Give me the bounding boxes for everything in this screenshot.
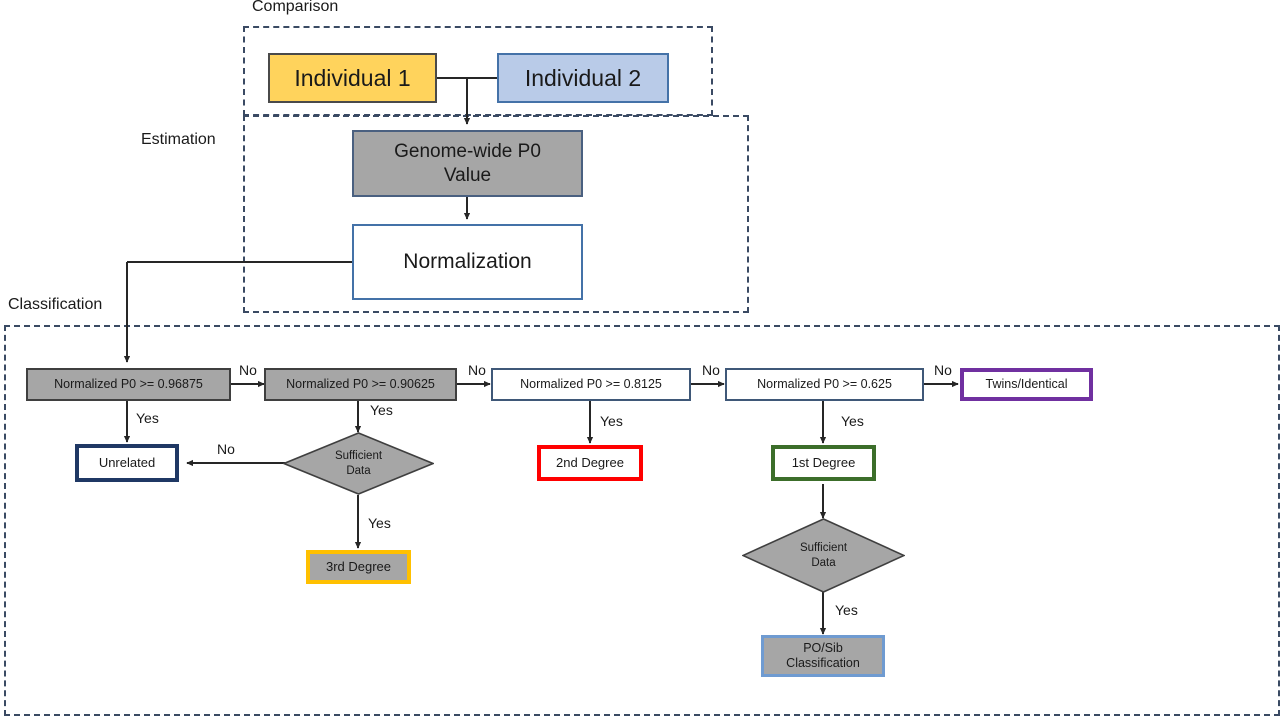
node-decision-p0-08125[interactable]: Normalized P0 >= 0.8125: [491, 368, 691, 401]
node-2nd-degree[interactable]: 2nd Degree: [537, 445, 643, 481]
edge-label-no-2: No: [468, 362, 486, 378]
node-normalization[interactable]: Normalization: [352, 224, 583, 300]
posib-line-1: PO/Sib: [803, 641, 843, 656]
sufficient-data-1-line-1: Sufficient: [335, 449, 382, 463]
posib-line-2: Classification: [786, 656, 860, 671]
node-sufficient-data-2[interactable]: Sufficient Data: [742, 518, 905, 593]
edge-label-yes-1: Yes: [136, 410, 159, 426]
flowchart-canvas: Comparison Estimation Classification: [0, 0, 1280, 720]
edge-label-no-4: No: [934, 362, 952, 378]
node-unrelated[interactable]: Unrelated: [75, 444, 179, 482]
node-po-sib-classification[interactable]: PO/Sib Classification: [761, 635, 885, 677]
node-genome-wide-p0[interactable]: Genome-wide P0 Value: [352, 130, 583, 197]
node-3rd-degree[interactable]: 3rd Degree: [306, 550, 411, 584]
sufficient-data-2-line-1: Sufficient: [800, 541, 847, 555]
group-classification-label: Classification: [8, 296, 102, 314]
group-estimation-label: Estimation: [141, 131, 216, 149]
node-individual-2[interactable]: Individual 2: [497, 53, 669, 103]
edge-label-yes-2: Yes: [370, 402, 393, 418]
genome-p0-line-1: Genome-wide P0: [394, 140, 541, 163]
node-1st-degree[interactable]: 1st Degree: [771, 445, 876, 481]
sufficient-data-2-line-2: Data: [811, 556, 835, 570]
node-sufficient-data-1[interactable]: Sufficient Data: [283, 432, 434, 495]
node-decision-p0-096875[interactable]: Normalized P0 >= 0.96875: [26, 368, 231, 401]
edge-label-no-3: No: [702, 362, 720, 378]
genome-p0-line-2: Value: [444, 164, 491, 187]
edge-label-no-sufficient-1: No: [217, 441, 235, 457]
sufficient-data-1-line-2: Data: [346, 464, 370, 478]
node-twins-identical[interactable]: Twins/Identical: [960, 368, 1093, 401]
node-decision-p0-0625[interactable]: Normalized P0 >= 0.625: [725, 368, 924, 401]
edge-label-yes-sufficient-2: Yes: [835, 602, 858, 618]
edge-label-yes-3: Yes: [600, 413, 623, 429]
edge-label-yes-4: Yes: [841, 413, 864, 429]
edge-label-no-1: No: [239, 362, 257, 378]
node-individual-1[interactable]: Individual 1: [268, 53, 437, 103]
group-comparison-label: Comparison: [252, 0, 338, 16]
node-decision-p0-090625[interactable]: Normalized P0 >= 0.90625: [264, 368, 457, 401]
edge-label-yes-sufficient-1: Yes: [368, 515, 391, 531]
